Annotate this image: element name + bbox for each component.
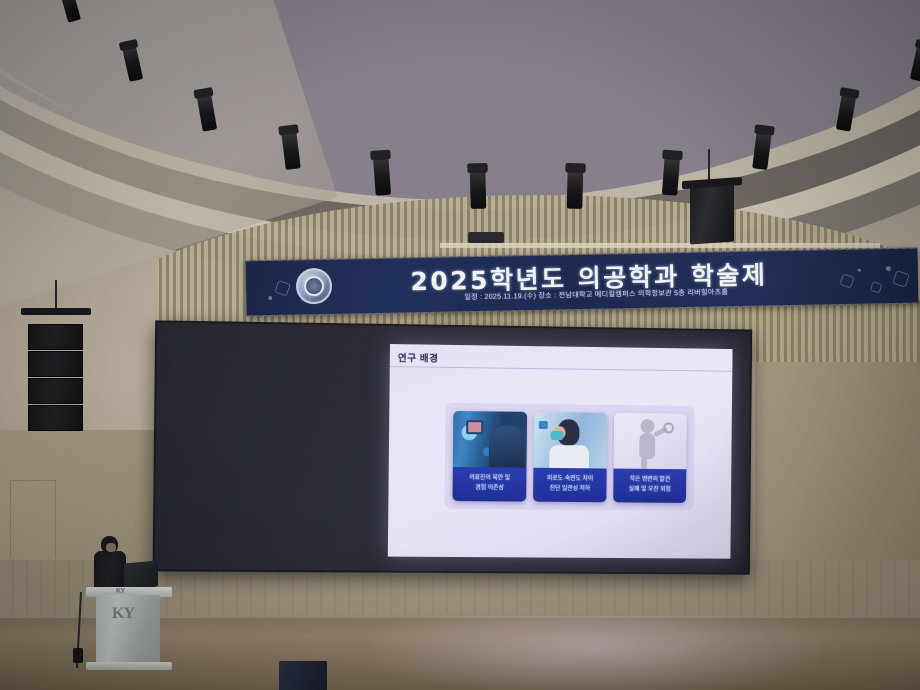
slide-card-label: 의료진의 육안 및 경험 의존성 xyxy=(452,467,526,502)
figure-head xyxy=(641,419,655,433)
line-array-speaker-left xyxy=(28,318,83,436)
hexagon-decoration xyxy=(839,273,854,288)
highlight-dot xyxy=(483,447,492,456)
slide-card: 작은 병변의 발견 실패 및 오진 위험 xyxy=(613,413,687,503)
figure-leg xyxy=(641,457,647,469)
microphone-base xyxy=(73,648,83,663)
slide-card: 의료진의 육안 및 경험 의존성 xyxy=(452,411,527,502)
stage-light xyxy=(836,92,857,132)
wall-door-outline xyxy=(10,480,56,558)
stage-light xyxy=(470,168,487,209)
hexagon-decoration xyxy=(892,270,910,288)
magnifier-figure-illustration xyxy=(614,413,687,469)
speaker-module xyxy=(28,378,83,404)
speaker-suspension-wire xyxy=(55,280,57,310)
stage-light xyxy=(753,129,773,170)
dot-decoration xyxy=(886,266,891,271)
hanging-ceiling-speaker xyxy=(690,183,734,244)
projection-screen: 연구 배경 의료진의 육안 및 경험 의존성 xyxy=(153,320,753,574)
podium-logo: KY xyxy=(112,605,134,623)
speaker-module xyxy=(28,324,83,350)
speaker-module xyxy=(28,405,83,431)
hexagon-decoration xyxy=(870,281,883,294)
stage-light xyxy=(910,44,920,82)
podium-base xyxy=(86,662,172,670)
stage-light xyxy=(567,168,584,209)
face-mask-icon xyxy=(551,431,564,440)
fatigued-clinician-photo xyxy=(533,412,607,469)
magnifying-glass-icon xyxy=(663,422,674,433)
auditorium-scene: 2025학년도 의공학과 학술제 일정 : 2025.11.19.(수) 장소 … xyxy=(0,0,920,690)
slide-title-divider xyxy=(390,366,733,372)
card-label-line2: 경험 의존성 xyxy=(453,483,527,493)
podium-logo-small: KY xyxy=(116,588,125,595)
card-label-line2: 실패 및 오진 위험 xyxy=(613,485,686,495)
presenter-laptop xyxy=(124,561,158,590)
monitor-screen-icon xyxy=(466,420,483,434)
presenter-face xyxy=(106,543,116,552)
stage-floor-monitor xyxy=(279,661,327,690)
hexagon-decoration xyxy=(274,280,291,297)
stage-light xyxy=(373,155,391,196)
speaker-fly-bar xyxy=(21,308,91,315)
dot-decoration xyxy=(858,269,861,272)
slide-card: 피로도·숙련도 차이 진단 일관성 저하 xyxy=(533,412,607,502)
cap-icon xyxy=(539,421,548,429)
figure-body xyxy=(639,433,655,459)
slide-card-tray: 의료진의 육안 및 경험 의존성 xyxy=(444,403,694,511)
slide-card-label: 피로도·숙련도 차이 진단 일관성 저하 xyxy=(533,468,607,503)
presentation-slide: 연구 배경 의료진의 육안 및 경험 의존성 xyxy=(388,344,733,559)
card-label-line2: 진단 일관성 저하 xyxy=(533,484,606,494)
stage-light xyxy=(662,155,680,196)
slide-title: 연구 배경 xyxy=(398,350,439,365)
person-coat xyxy=(549,445,589,468)
slide-card-label: 작은 병변의 발견 실패 및 오진 위험 xyxy=(613,469,686,503)
dot-decoration xyxy=(268,296,272,300)
speaker-module xyxy=(28,351,83,377)
wall-rail xyxy=(440,243,880,248)
small-ceiling-speaker xyxy=(468,232,504,243)
medical-monitor-photo xyxy=(453,411,527,468)
